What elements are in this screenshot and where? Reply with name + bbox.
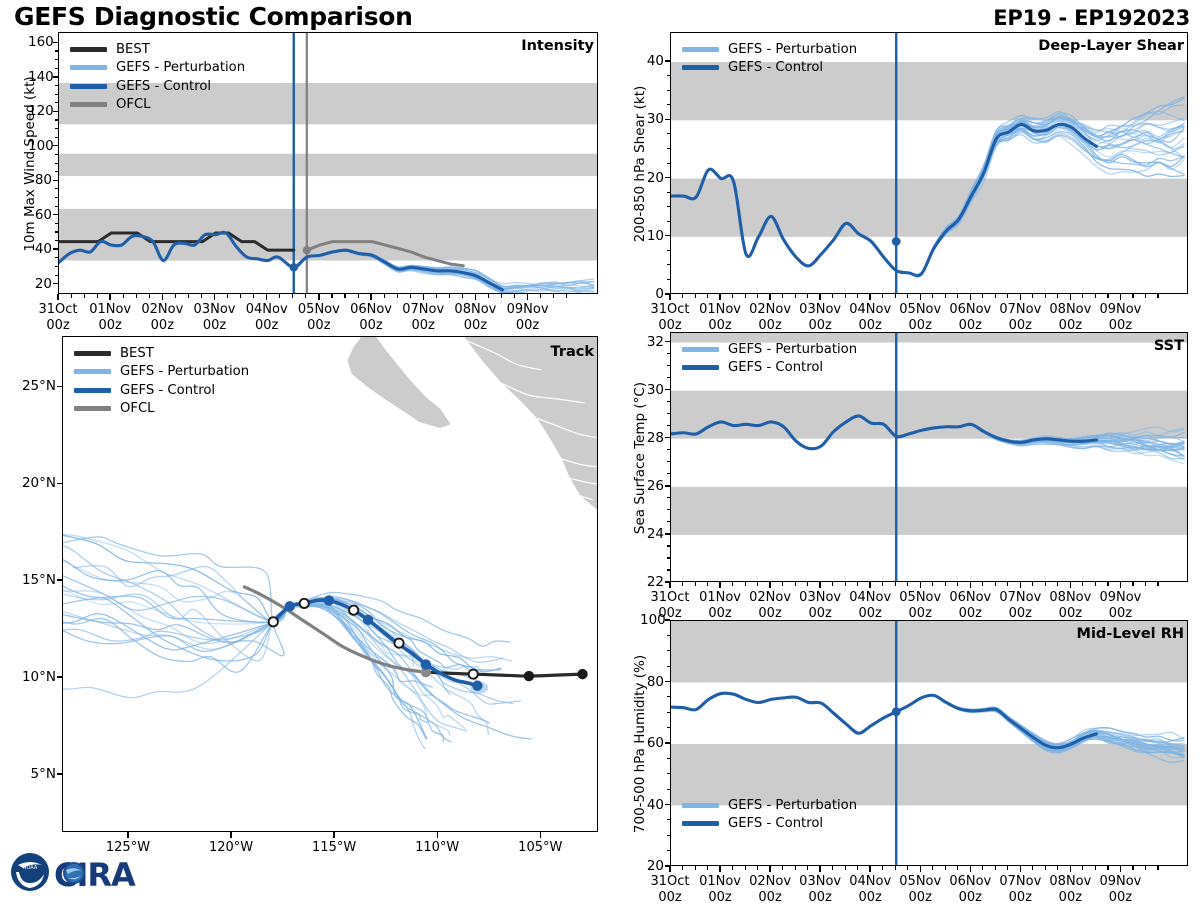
intensity-y-minor-tick xyxy=(55,197,58,198)
sst-y-minor-tick xyxy=(667,377,670,378)
x-tick-hour: 00z xyxy=(858,890,881,905)
legend-item-control: GEFS - Control xyxy=(682,359,857,378)
shear-x-tick xyxy=(719,294,720,300)
rh-y-tick-label: 60 xyxy=(640,735,664,751)
x-tick-date: 06Nov xyxy=(949,302,991,317)
intensity-y-tick xyxy=(53,145,58,146)
rh-y-tick-label: 20 xyxy=(640,858,664,874)
rh-x-minor-tick xyxy=(945,866,946,870)
shear-y-minor-tick xyxy=(667,221,670,222)
sst-y-tick-label: 28 xyxy=(640,430,664,446)
intensity-y-tick-label: 40 xyxy=(28,241,52,257)
track-y-tick xyxy=(57,773,62,774)
intensity-x-minor-tick xyxy=(488,294,489,298)
intensity-y-tick-label: 100 xyxy=(28,138,52,154)
sst-y-minor-tick xyxy=(667,473,670,474)
shear-x-minor-tick xyxy=(995,294,996,298)
sst-x-minor-tick xyxy=(895,582,896,586)
x-tick-date: 02Nov xyxy=(141,302,183,317)
sst-x-minor-tick xyxy=(757,582,758,586)
legend-label-perturbation: GEFS - Perturbation xyxy=(728,343,857,356)
track-x-tick xyxy=(333,832,334,838)
rh-y-minor-tick xyxy=(667,650,670,651)
rh-x-tick-label: 03Nov00z xyxy=(799,874,841,907)
sst-x-minor-tick xyxy=(845,582,846,586)
intensity-x-tick xyxy=(527,294,528,300)
rh-y-tick xyxy=(665,742,670,743)
intensity-y-minor-tick xyxy=(55,154,58,155)
sst-x-minor-tick xyxy=(1095,582,1096,586)
rh-x-tick-label: 04Nov00z xyxy=(849,874,891,907)
x-tick-date: 07Nov xyxy=(402,302,444,317)
legend-label-control: GEFS - Control xyxy=(120,384,215,397)
sst-y-axis-label: Sea Surface Temp (°C) xyxy=(632,338,648,578)
rh-x-minor-tick xyxy=(795,866,796,870)
legend-item-best: BEST xyxy=(70,40,245,59)
rh-x-tick xyxy=(1070,866,1071,872)
intensity-y-minor-tick xyxy=(55,137,58,138)
shear-x-minor-tick xyxy=(1007,294,1008,298)
rh-legend: GEFS - Perturbation GEFS - Control xyxy=(682,796,857,833)
x-tick-date: 04Nov xyxy=(246,302,288,317)
legend-label-control: GEFS - Control xyxy=(728,361,823,374)
track-x-tick-label: 110°W xyxy=(415,840,459,856)
rh-y-minor-tick xyxy=(667,727,670,728)
track-x-tick-label: 115°W xyxy=(312,840,356,856)
sst-y-minor-tick xyxy=(667,509,670,510)
intensity-x-minor-tick xyxy=(84,294,85,298)
legend-label-perturbation: GEFS - Perturbation xyxy=(728,799,857,812)
intensity-x-minor-tick xyxy=(436,294,437,298)
intensity-x-tick xyxy=(475,294,476,300)
sst-x-minor-tick xyxy=(1145,582,1146,586)
track-y-tick xyxy=(57,676,62,677)
legend-label-control: GEFS - Control xyxy=(116,80,211,93)
sst-x-minor-tick xyxy=(782,582,783,586)
rh-y-tick xyxy=(665,804,670,805)
track-y-tick-label: 5°N xyxy=(4,766,56,782)
track-x-tick xyxy=(127,832,128,838)
sst-x-tick xyxy=(920,582,921,588)
legend-item-control: GEFS - Control xyxy=(70,77,245,96)
sst-x-minor-tick xyxy=(982,582,983,586)
sst-y-minor-tick xyxy=(667,569,670,570)
x-tick-date: 06Nov xyxy=(949,590,991,605)
track-x-tick xyxy=(230,832,231,838)
track-y-tick-label: 10°N xyxy=(4,669,56,685)
legend-swatch-control xyxy=(74,388,111,393)
shear-y-tick xyxy=(665,60,670,61)
panel-shear: 200-850 hPa Shear (kt) Deep-Layer Shear … xyxy=(610,26,1200,326)
x-tick-date: 09Nov xyxy=(507,302,549,317)
rh-x-minor-tick xyxy=(907,866,908,870)
sst-y-minor-tick xyxy=(667,557,670,558)
rh-x-tick-label: 09Nov00z xyxy=(1099,874,1141,907)
x-tick-date: 05Nov xyxy=(899,302,941,317)
intensity-y-minor-tick xyxy=(55,223,58,224)
sst-x-minor-tick xyxy=(707,582,708,586)
rh-x-minor-tick xyxy=(1132,866,1133,870)
sst-x-minor-tick xyxy=(857,582,858,586)
legend-swatch-best xyxy=(74,351,111,356)
track-y-tick-label: 25°N xyxy=(4,378,56,394)
intensity-y-minor-tick xyxy=(55,85,58,86)
sst-y-tick-label: 26 xyxy=(640,478,664,494)
intensity-x-minor-tick xyxy=(358,294,359,298)
rh-x-tick xyxy=(1020,866,1021,872)
rh-x-tick xyxy=(669,866,670,872)
legend-item-perturbation: GEFS - Perturbation xyxy=(682,40,857,59)
legend-label-perturbation: GEFS - Perturbation xyxy=(116,61,245,74)
x-tick-date: 01Nov xyxy=(699,874,741,889)
sst-y-tick-label: 30 xyxy=(640,382,664,398)
intensity-x-minor-tick xyxy=(123,294,124,298)
panel-intensity: 10m Max Wind Speed (kt) Intensity BEST G… xyxy=(0,26,610,326)
sst-y-minor-tick xyxy=(667,521,670,522)
track-x-tick xyxy=(540,832,541,838)
shear-x-minor-tick xyxy=(957,294,958,298)
intensity-x-minor-tick xyxy=(149,294,150,298)
cira-icon: CIRA xyxy=(54,856,136,894)
x-tick-date: 31Oct xyxy=(650,590,689,605)
intensity-y-tick xyxy=(53,111,58,112)
sst-y-minor-tick xyxy=(667,365,670,366)
rh-x-tick-label: 05Nov00z xyxy=(899,874,941,907)
x-tick-date: 03Nov xyxy=(194,302,236,317)
sst-x-minor-tick xyxy=(957,582,958,586)
x-tick-date: 01Nov xyxy=(89,302,131,317)
legend-label-ofcl: OFCL xyxy=(120,402,155,415)
intensity-y-tick-label: 120 xyxy=(28,103,52,119)
rh-x-minor-tick xyxy=(745,866,746,870)
shear-x-tick xyxy=(819,294,820,300)
rh-x-minor-tick xyxy=(782,866,783,870)
shear-y-minor-tick xyxy=(667,206,670,207)
sst-x-tick xyxy=(970,582,971,588)
sst-y-tick xyxy=(665,437,670,438)
rh-x-minor-tick xyxy=(1045,866,1046,870)
legend-swatch-perturbation xyxy=(682,803,719,808)
rh-y-tick-label: 80 xyxy=(640,674,664,690)
rh-x-minor-tick xyxy=(845,866,846,870)
x-tick-date: 01Nov xyxy=(699,302,741,317)
track-y-tick xyxy=(57,386,62,387)
x-tick-date: 03Nov xyxy=(799,874,841,889)
intensity-x-minor-tick xyxy=(188,294,189,298)
intensity-x-tick xyxy=(370,294,371,300)
intensity-x-minor-tick xyxy=(305,294,306,298)
intensity-x-minor-tick xyxy=(175,294,176,298)
intensity-y-tick-label: 80 xyxy=(28,172,52,188)
shear-x-minor-tick xyxy=(1032,294,1033,298)
rh-y-minor-tick xyxy=(667,758,670,759)
legend-swatch-perturbation xyxy=(70,65,107,70)
shear-x-minor-tick xyxy=(932,294,933,298)
intensity-y-minor-tick xyxy=(55,59,58,60)
sst-x-tick xyxy=(719,582,720,588)
legend-item-best: BEST xyxy=(74,344,249,363)
intensity-x-minor-tick xyxy=(397,294,398,298)
x-tick-date: 31Oct xyxy=(38,302,77,317)
legend-swatch-best xyxy=(70,47,107,52)
rh-x-minor-tick xyxy=(995,866,996,870)
sst-x-minor-tick xyxy=(1157,582,1158,586)
sst-x-minor-tick xyxy=(795,582,796,586)
shear-legend: GEFS - Perturbation GEFS - Control xyxy=(682,40,857,77)
track-y-tick-label: 20°N xyxy=(4,475,56,491)
shear-x-minor-tick xyxy=(782,294,783,298)
legend-swatch-perturbation xyxy=(682,47,719,52)
sst-y-tick-label: 22 xyxy=(640,574,664,590)
intensity-y-tick-label: 20 xyxy=(28,276,52,292)
shear-x-minor-tick xyxy=(882,294,883,298)
rh-y-tick xyxy=(665,681,670,682)
x-tick-date: 08Nov xyxy=(454,302,496,317)
rh-y-tick-label: 40 xyxy=(640,797,664,813)
intensity-x-tick xyxy=(266,294,267,300)
legend-label-best: BEST xyxy=(116,43,150,56)
intensity-x-minor-tick xyxy=(240,294,241,298)
x-tick-date: 05Nov xyxy=(899,590,941,605)
sst-x-minor-tick xyxy=(1032,582,1033,586)
rh-y-minor-tick xyxy=(667,712,670,713)
rh-x-minor-tick xyxy=(682,866,683,870)
sst-y-tick xyxy=(665,485,670,486)
intensity-y-minor-tick xyxy=(55,102,58,103)
intensity-x-tick xyxy=(423,294,424,300)
x-tick-hour: 00z xyxy=(1059,890,1082,905)
shear-y-tick-label: 0 xyxy=(640,286,664,302)
shear-x-minor-tick xyxy=(807,294,808,298)
sst-y-minor-tick xyxy=(667,461,670,462)
shear-x-minor-tick xyxy=(832,294,833,298)
intensity-y-tick-label: 140 xyxy=(28,69,52,85)
legend-label-perturbation: GEFS - Perturbation xyxy=(120,365,249,378)
shear-y-tick xyxy=(665,177,670,178)
legend-item-ofcl: OFCL xyxy=(74,400,249,419)
intensity-x-minor-tick xyxy=(449,294,450,298)
sst-y-minor-tick xyxy=(667,401,670,402)
shear-x-minor-tick xyxy=(845,294,846,298)
sst-x-minor-tick xyxy=(832,582,833,586)
intensity-y-minor-tick xyxy=(55,231,58,232)
shear-x-minor-tick xyxy=(945,294,946,298)
rh-x-tick-label: 01Nov00z xyxy=(699,874,741,907)
sst-x-minor-tick xyxy=(932,582,933,586)
shear-x-tick xyxy=(1070,294,1071,300)
shear-x-minor-tick xyxy=(745,294,746,298)
x-tick-date: 31Oct xyxy=(650,874,689,889)
shear-y-minor-tick xyxy=(667,279,670,280)
shear-x-tick xyxy=(869,294,870,300)
track-x-tick-label: 105°W xyxy=(518,840,562,856)
track-y-tick-label: 15°N xyxy=(4,572,56,588)
rh-y-minor-tick xyxy=(667,789,670,790)
sst-legend: GEFS - Perturbation GEFS - Control xyxy=(682,340,857,377)
rh-x-tick xyxy=(920,866,921,872)
sst-x-minor-tick xyxy=(995,582,996,586)
shear-x-minor-tick xyxy=(1132,294,1133,298)
shear-x-minor-tick xyxy=(695,294,696,298)
x-tick-date: 03Nov xyxy=(799,590,841,605)
legend-item-ofcl: OFCL xyxy=(70,96,245,115)
intensity-x-minor-tick xyxy=(344,294,345,298)
sst-y-tick-label: 32 xyxy=(640,334,664,350)
sst-y-tick xyxy=(665,533,670,534)
shear-x-tick xyxy=(1020,294,1021,300)
legend-label-best: BEST xyxy=(120,347,154,360)
shear-x-tick xyxy=(920,294,921,300)
intensity-panel-title: Intensity xyxy=(521,38,594,54)
rh-x-minor-tick xyxy=(832,866,833,870)
sst-x-minor-tick xyxy=(1057,582,1058,586)
rh-y-minor-tick xyxy=(667,850,670,851)
legend-item-perturbation: GEFS - Perturbation xyxy=(682,796,857,815)
intensity-y-minor-tick xyxy=(55,94,58,95)
sst-x-minor-tick xyxy=(807,582,808,586)
sst-y-minor-tick xyxy=(667,449,670,450)
x-tick-hour: 00z xyxy=(959,890,982,905)
rh-x-minor-tick xyxy=(757,866,758,870)
shear-x-tick xyxy=(669,294,670,300)
rh-x-tick-label: 31Oct00z xyxy=(650,874,689,907)
shear-x-minor-tick xyxy=(895,294,896,298)
svg-text:NOAA: NOAA xyxy=(23,865,38,871)
x-tick-hour: 00z xyxy=(1109,890,1132,905)
legend-item-control: GEFS - Control xyxy=(682,59,857,78)
rh-x-tick xyxy=(819,866,820,872)
intensity-y-minor-tick xyxy=(55,128,58,129)
intensity-x-minor-tick xyxy=(384,294,385,298)
x-tick-date: 02Nov xyxy=(749,874,791,889)
legend-item-control: GEFS - Control xyxy=(682,815,857,834)
legend-swatch-perturbation xyxy=(682,347,719,352)
rh-x-minor-tick xyxy=(1082,866,1083,870)
intensity-x-minor-tick xyxy=(227,294,228,298)
shear-y-minor-tick xyxy=(667,163,670,164)
shear-x-minor-tick xyxy=(795,294,796,298)
sst-x-minor-tick xyxy=(745,582,746,586)
legend-swatch-perturbation xyxy=(74,369,111,374)
shear-y-minor-tick xyxy=(667,104,670,105)
rh-y-minor-tick xyxy=(667,696,670,697)
intensity-y-tick xyxy=(53,76,58,77)
shear-x-minor-tick xyxy=(682,294,683,298)
sst-y-tick xyxy=(665,389,670,390)
intensity-y-minor-tick xyxy=(55,275,58,276)
x-tick-date: 07Nov xyxy=(999,590,1041,605)
x-tick-date: 06Nov xyxy=(949,874,991,889)
panel-sst: Sea Surface Temp (°C) SST GEFS - Perturb… xyxy=(610,326,1200,614)
intensity-y-minor-tick xyxy=(55,257,58,258)
intensity-y-minor-tick xyxy=(55,119,58,120)
shear-y-tick-label: 10 xyxy=(640,228,664,244)
rh-x-minor-tick xyxy=(932,866,933,870)
noaa-icon: NOAA xyxy=(11,853,49,891)
rh-y-tick xyxy=(665,619,670,620)
sst-panel-title: SST xyxy=(1154,338,1184,354)
rh-x-minor-tick xyxy=(895,866,896,870)
shear-y-tick-label: 30 xyxy=(640,111,664,127)
shear-x-minor-tick xyxy=(1107,294,1108,298)
legend-item-perturbation: GEFS - Perturbation xyxy=(70,59,245,78)
shear-y-minor-tick xyxy=(667,75,670,76)
rh-x-minor-tick xyxy=(732,866,733,870)
legend-label-perturbation: GEFS - Perturbation xyxy=(728,43,857,56)
intensity-y-tick-label: 160 xyxy=(28,34,52,50)
intensity-x-minor-tick xyxy=(331,294,332,298)
shear-x-minor-tick xyxy=(982,294,983,298)
track-y-tick xyxy=(57,483,62,484)
intensity-x-minor-tick xyxy=(136,294,137,298)
sst-x-minor-tick xyxy=(907,582,908,586)
shear-y-minor-tick xyxy=(667,264,670,265)
intensity-x-minor-tick xyxy=(279,294,280,298)
x-tick-date: 08Nov xyxy=(1049,302,1091,317)
shear-x-minor-tick xyxy=(1057,294,1058,298)
x-tick-date: 31Oct xyxy=(650,302,689,317)
shear-y-minor-tick xyxy=(667,148,670,149)
rh-x-minor-tick xyxy=(957,866,958,870)
legend-swatch-ofcl xyxy=(74,406,111,411)
intensity-x-minor-tick xyxy=(292,294,293,298)
shear-x-tick xyxy=(1120,294,1121,300)
x-tick-date: 01Nov xyxy=(699,590,741,605)
shear-x-tick xyxy=(769,294,770,300)
x-tick-date: 02Nov xyxy=(749,590,791,605)
shear-x-minor-tick xyxy=(857,294,858,298)
sst-x-tick xyxy=(1020,582,1021,588)
sst-x-minor-tick xyxy=(1107,582,1108,586)
rh-y-tick-label: 100 xyxy=(640,612,664,628)
shear-x-minor-tick xyxy=(1045,294,1046,298)
sst-y-tick xyxy=(665,341,670,342)
intensity-y-minor-tick xyxy=(55,171,58,172)
intensity-x-minor-tick xyxy=(253,294,254,298)
rh-y-minor-tick xyxy=(667,835,670,836)
sst-x-minor-tick xyxy=(732,582,733,586)
track-x-tick-label: 120°W xyxy=(209,840,253,856)
rh-x-tick xyxy=(1120,866,1121,872)
x-tick-hour: 00z xyxy=(708,890,731,905)
rh-x-tick-label: 06Nov00z xyxy=(949,874,991,907)
shear-x-minor-tick xyxy=(1095,294,1096,298)
intensity-x-minor-tick xyxy=(97,294,98,298)
intensity-x-minor-tick xyxy=(566,294,567,298)
shear-x-minor-tick xyxy=(1082,294,1083,298)
intensity-x-minor-tick xyxy=(514,294,515,298)
sst-y-minor-tick xyxy=(667,545,670,546)
rh-x-minor-tick xyxy=(1157,866,1158,870)
intensity-x-tick xyxy=(214,294,215,300)
intensity-x-tick xyxy=(57,294,58,300)
rh-x-tick xyxy=(869,866,870,872)
rh-x-minor-tick xyxy=(1032,866,1033,870)
rh-x-tick xyxy=(719,866,720,872)
intensity-x-tick xyxy=(109,294,110,300)
sst-x-minor-tick xyxy=(945,582,946,586)
intensity-x-minor-tick xyxy=(553,294,554,298)
rh-x-minor-tick xyxy=(695,866,696,870)
intensity-y-minor-tick xyxy=(55,240,58,241)
rh-x-minor-tick xyxy=(1057,866,1058,870)
sst-x-minor-tick xyxy=(1132,582,1133,586)
x-tick-date: 04Nov xyxy=(849,590,891,605)
x-tick-date: 09Nov xyxy=(1099,590,1141,605)
intensity-x-minor-tick xyxy=(462,294,463,298)
intensity-legend: BEST GEFS - Perturbation GEFS - Control … xyxy=(70,40,245,114)
sst-y-minor-tick xyxy=(667,425,670,426)
